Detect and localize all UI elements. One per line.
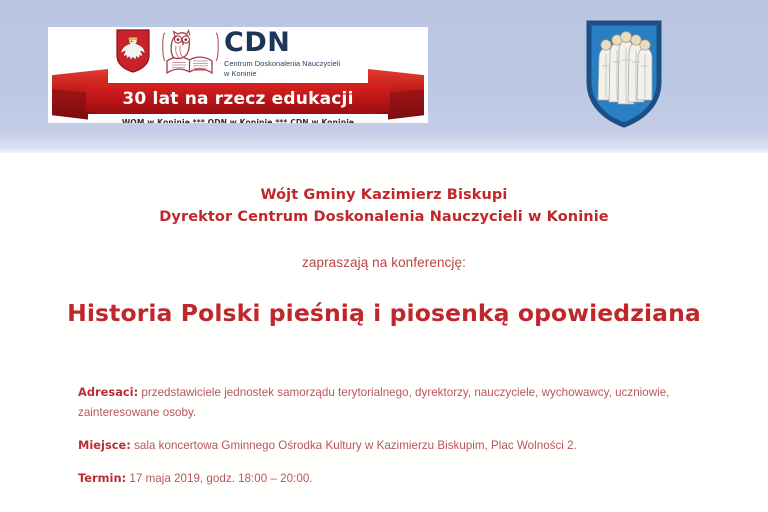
detail-value-adresaci: przedstawiciele jednostek samorządu tery… (78, 386, 669, 419)
detail-label-termin: Termin: (78, 471, 126, 485)
cdn-logo-card: CDN Centrum Doskonalenia Nauczycieli w K… (48, 27, 428, 123)
affiliates-line: WOM w Koninie *** ODN w Koninie *** CDN … (94, 118, 382, 123)
detail-value-miejsce: sala koncertowa Gminnego Ośrodka Kultury… (131, 439, 577, 452)
details-block: Adresaci: przedstawiciele jednostek samo… (78, 383, 706, 489)
poster-content: Wójt Gminy Kazimierz Biskupi Dyrektor Ce… (0, 153, 768, 512)
header-band: CDN Centrum Doskonalenia Nauczycieli w K… (0, 0, 768, 153)
detail-label-adresaci: Adresaci: (78, 385, 138, 399)
organizer-line-1: Wójt Gminy Kazimierz Biskupi (0, 184, 768, 206)
ribbon-slogan: 30 lat na rzecz edukacji (86, 89, 390, 109)
organizers-block: Wójt Gminy Kazimierz Biskupi Dyrektor Ce… (0, 184, 768, 229)
detail-row: Termin: 17 maja 2019, godz. 18:00 – 20:0… (78, 469, 706, 489)
detail-value-termin: 17 maja 2019, godz. 18:00 – 20:00. (126, 472, 312, 485)
invitation-line: zapraszają na konferencję: (0, 255, 768, 270)
detail-row: Miejsce: sala koncertowa Gminnego Ośrodk… (78, 436, 706, 456)
page-title: Historia Polski pieśnią i piosenką opowi… (0, 299, 768, 327)
conference-poster: CDN Centrum Doskonalenia Nauczycieli w K… (0, 0, 768, 512)
cdn-acronym: CDN (224, 29, 424, 56)
detail-label-miejsce: Miejsce: (78, 438, 131, 452)
organizer-line-2: Dyrektor Centrum Doskonalenia Nauczyciel… (0, 206, 768, 228)
herb-gminy-kazimierz-biskupi-icon (586, 20, 662, 128)
anniversary-ribbon: WOM w Koninie *** ODN w Koninie *** CDN … (48, 67, 428, 123)
detail-row: Adresaci: przedstawiciele jednostek samo… (78, 383, 706, 423)
